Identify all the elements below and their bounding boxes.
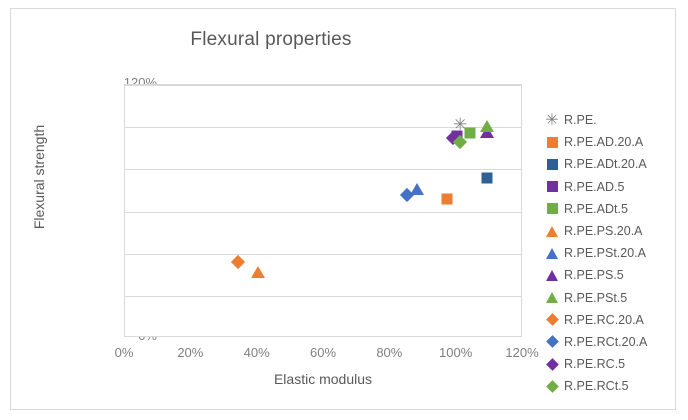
- legend-item-r-pe-rc-5[interactable]: R.PE.RC.5: [545, 353, 685, 375]
- x-axis-tick-label: 40%: [227, 345, 287, 360]
- legend-label: R.PE.RCt.20.A: [564, 335, 647, 349]
- x-axis-tick-label: 20%: [160, 345, 220, 360]
- diamond-marker-icon: [545, 335, 559, 349]
- legend-label: R.PE.ADt.5: [564, 202, 628, 216]
- chart-title: Flexural properties: [11, 29, 531, 51]
- triangle-marker-icon: [545, 246, 559, 260]
- legend-label: R.PE.RC.20.A: [564, 313, 644, 327]
- legend-label: R.PE.PSt.5: [564, 291, 627, 305]
- diamond-marker-icon: [545, 313, 559, 327]
- data-point: [464, 128, 475, 139]
- triangle-marker-icon: [545, 291, 559, 305]
- legend-label: R.PE.: [564, 113, 597, 127]
- square-marker-icon: [545, 157, 559, 171]
- square-marker-icon: [545, 180, 559, 194]
- legend-item-r-pe-pst-20-a[interactable]: R.PE.PSt.20.A: [545, 242, 685, 264]
- gridline: [125, 296, 521, 297]
- gridline: [125, 254, 521, 255]
- gridline: [125, 212, 521, 213]
- x-axis-tick-label: 120%: [492, 345, 552, 360]
- data-point: [251, 266, 265, 278]
- legend-label: R.PE.PS.5: [564, 268, 624, 282]
- legend-label: R.PE.AD.20.A: [564, 135, 643, 149]
- square-marker-icon: [545, 135, 559, 149]
- asterisk-marker-icon: ✳: [545, 113, 559, 127]
- chart-legend: ✳R.PE.R.PE.AD.20.AR.PE.ADt.20.AR.PE.AD.5…: [545, 109, 685, 397]
- gridline: [125, 169, 521, 170]
- data-point: [481, 172, 492, 183]
- legend-item-r-pe-ps-5[interactable]: R.PE.PS.5: [545, 264, 685, 286]
- chart-container: Flexural properties Flexural strength El…: [10, 8, 676, 410]
- legend-item-r-pe-rc-20-a[interactable]: R.PE.RC.20.A: [545, 309, 685, 331]
- legend-label: R.PE.PS.20.A: [564, 224, 643, 238]
- legend-label: R.PE.ADt.20.A: [564, 157, 647, 171]
- legend-item-r-pe[interactable]: ✳R.PE.: [545, 109, 685, 131]
- legend-item-r-pe-rct-20-a[interactable]: R.PE.RCt.20.A: [545, 331, 685, 353]
- x-axis-tick-label: 0%: [94, 345, 154, 360]
- diamond-marker-icon: [545, 357, 559, 371]
- gridline: [125, 85, 521, 86]
- x-axis-tick-label: 100%: [426, 345, 486, 360]
- legend-label: R.PE.AD.5: [564, 180, 624, 194]
- plot-area: ✳: [124, 84, 522, 337]
- x-axis-tick-label: 80%: [359, 345, 419, 360]
- y-axis-label: Flexural strength: [31, 87, 47, 267]
- triangle-marker-icon: [545, 268, 559, 282]
- x-axis-label: Elastic modulus: [124, 371, 522, 387]
- x-axis-tick-label: 60%: [293, 345, 353, 360]
- triangle-marker-icon: [545, 224, 559, 238]
- legend-label: R.PE.RC.5: [564, 357, 625, 371]
- legend-item-r-pe-ad-20-a[interactable]: R.PE.AD.20.A: [545, 131, 685, 153]
- legend-item-r-pe-pst-5[interactable]: R.PE.PSt.5: [545, 287, 685, 309]
- legend-label: R.PE.RCt.5: [564, 379, 629, 393]
- data-point: [231, 255, 245, 269]
- data-point: [441, 193, 452, 204]
- legend-item-r-pe-adt-20-a[interactable]: R.PE.ADt.20.A: [545, 153, 685, 175]
- legend-label: R.PE.PSt.20.A: [564, 246, 646, 260]
- legend-item-r-pe-ps-20-a[interactable]: R.PE.PS.20.A: [545, 220, 685, 242]
- legend-item-r-pe-ad-5[interactable]: R.PE.AD.5: [545, 176, 685, 198]
- legend-item-r-pe-rct-5[interactable]: R.PE.RCt.5: [545, 375, 685, 397]
- square-marker-icon: [545, 202, 559, 216]
- data-point: [480, 120, 494, 132]
- legend-item-r-pe-adt-5[interactable]: R.PE.ADt.5: [545, 198, 685, 220]
- diamond-marker-icon: [545, 379, 559, 393]
